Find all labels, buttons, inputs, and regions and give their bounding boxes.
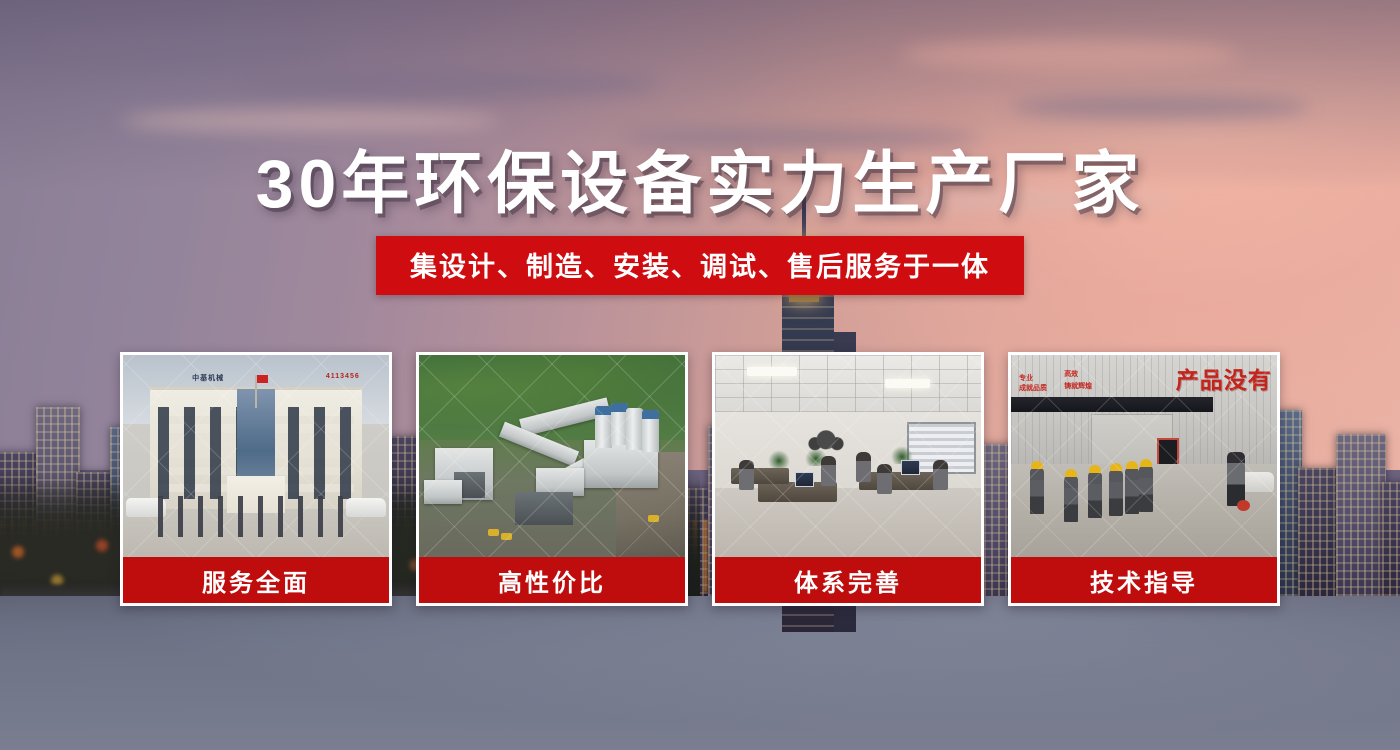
- river-reflection: [0, 596, 1400, 750]
- card-caption-label: 服务全面: [123, 557, 389, 603]
- subtitle-badge: 集设计、制造、安装、调试、售后服务于一体: [376, 236, 1024, 295]
- feature-card-guidance[interactable]: 产品没有 专业 成就品质 高效 铸就辉煌: [1008, 352, 1280, 606]
- cloud-shape: [240, 70, 660, 98]
- feature-card-system[interactable]: 体系完善: [712, 352, 984, 606]
- building-sign-text: 中基机械: [192, 373, 224, 383]
- card-caption-label: 技术指导: [1011, 557, 1277, 603]
- cloud-shape: [900, 40, 1240, 70]
- feature-card-service[interactable]: 中基机械 4113456 服务全面: [120, 352, 392, 606]
- page-title: 30年环保设备实力生产厂家: [0, 128, 1400, 227]
- card-caption-label: 体系完善: [715, 557, 981, 603]
- aerial-plant-photo: [419, 355, 685, 557]
- factory-slogan-4: 铸就辉煌: [1064, 383, 1092, 391]
- factory-slogan-1: 专业: [1019, 375, 1033, 383]
- cloud-shape: [40, 30, 340, 64]
- factory-slogan-3: 成就品质: [1019, 385, 1047, 393]
- workers-training-photo: 产品没有 专业 成就品质 高效 铸就辉煌: [1011, 355, 1277, 557]
- company-headquarters-photo: 中基机械 4113456: [123, 355, 389, 557]
- card-caption-label: 高性价比: [419, 557, 685, 603]
- feature-card-list: 中基机械 4113456 服务全面: [120, 352, 1280, 606]
- factory-wall-text: 产品没有: [1176, 361, 1272, 395]
- factory-slogan-2: 高效: [1064, 371, 1078, 379]
- feature-card-value[interactable]: 高性价比: [416, 352, 688, 606]
- office-interior-photo: [715, 355, 981, 557]
- building-phone-text: 4113456: [326, 373, 360, 380]
- cloud-shape: [1010, 95, 1310, 119]
- promo-banner: 30年环保设备实力生产厂家 集设计、制造、安装、调试、售后服务于一体 中基机械 …: [0, 0, 1400, 750]
